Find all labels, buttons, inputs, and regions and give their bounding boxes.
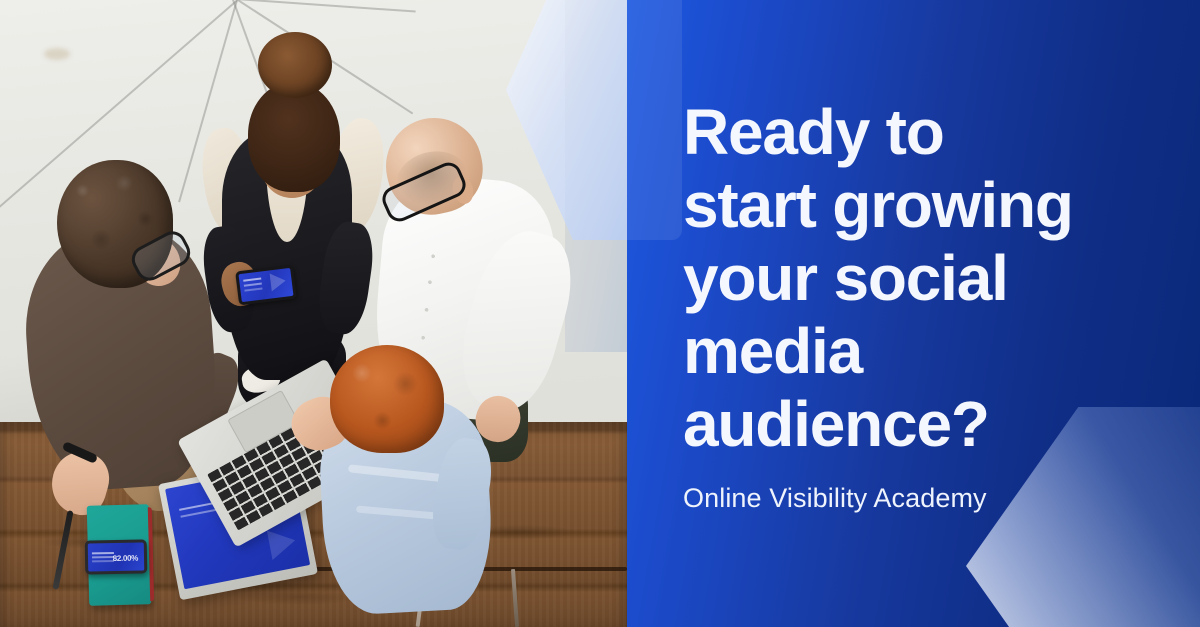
phone-text-lines [243, 278, 261, 282]
phone-text-lines [92, 552, 114, 554]
person-bun-topknot [258, 32, 332, 98]
headline-line: Ready to [683, 96, 1153, 169]
person-red-hair-head [330, 345, 444, 453]
phone-metric-value: 82.00% [113, 554, 138, 563]
headline-line: your social [683, 242, 1153, 315]
headline-line: start growing [683, 169, 1153, 242]
photo-panel: 82.00% [0, 0, 627, 627]
blue-content-panel: Ready to start growing your social media… [627, 0, 1200, 627]
smartphone-on-table: 82.00% [85, 539, 148, 574]
smartphone-held [235, 265, 297, 306]
headline-line: audience? [683, 388, 1153, 461]
phone-screen: 82.00% [88, 543, 144, 572]
floor-blotch [44, 48, 70, 60]
play-triangle-icon [270, 272, 287, 292]
chevron-left-icon [627, 0, 682, 240]
promo-banner: 82.00% Ready to start growing your socia… [0, 0, 1200, 627]
subtitle: Online Visibility Academy [683, 483, 1153, 514]
headline-line: media [683, 315, 1153, 388]
copy-block: Ready to start growing your social media… [683, 96, 1153, 514]
page-title: Ready to start growing your social media… [683, 96, 1153, 461]
phone-screen [238, 268, 293, 302]
wall-strip [565, 0, 627, 352]
person-bun-hair [248, 82, 340, 192]
play-triangle-icon [267, 526, 298, 560]
